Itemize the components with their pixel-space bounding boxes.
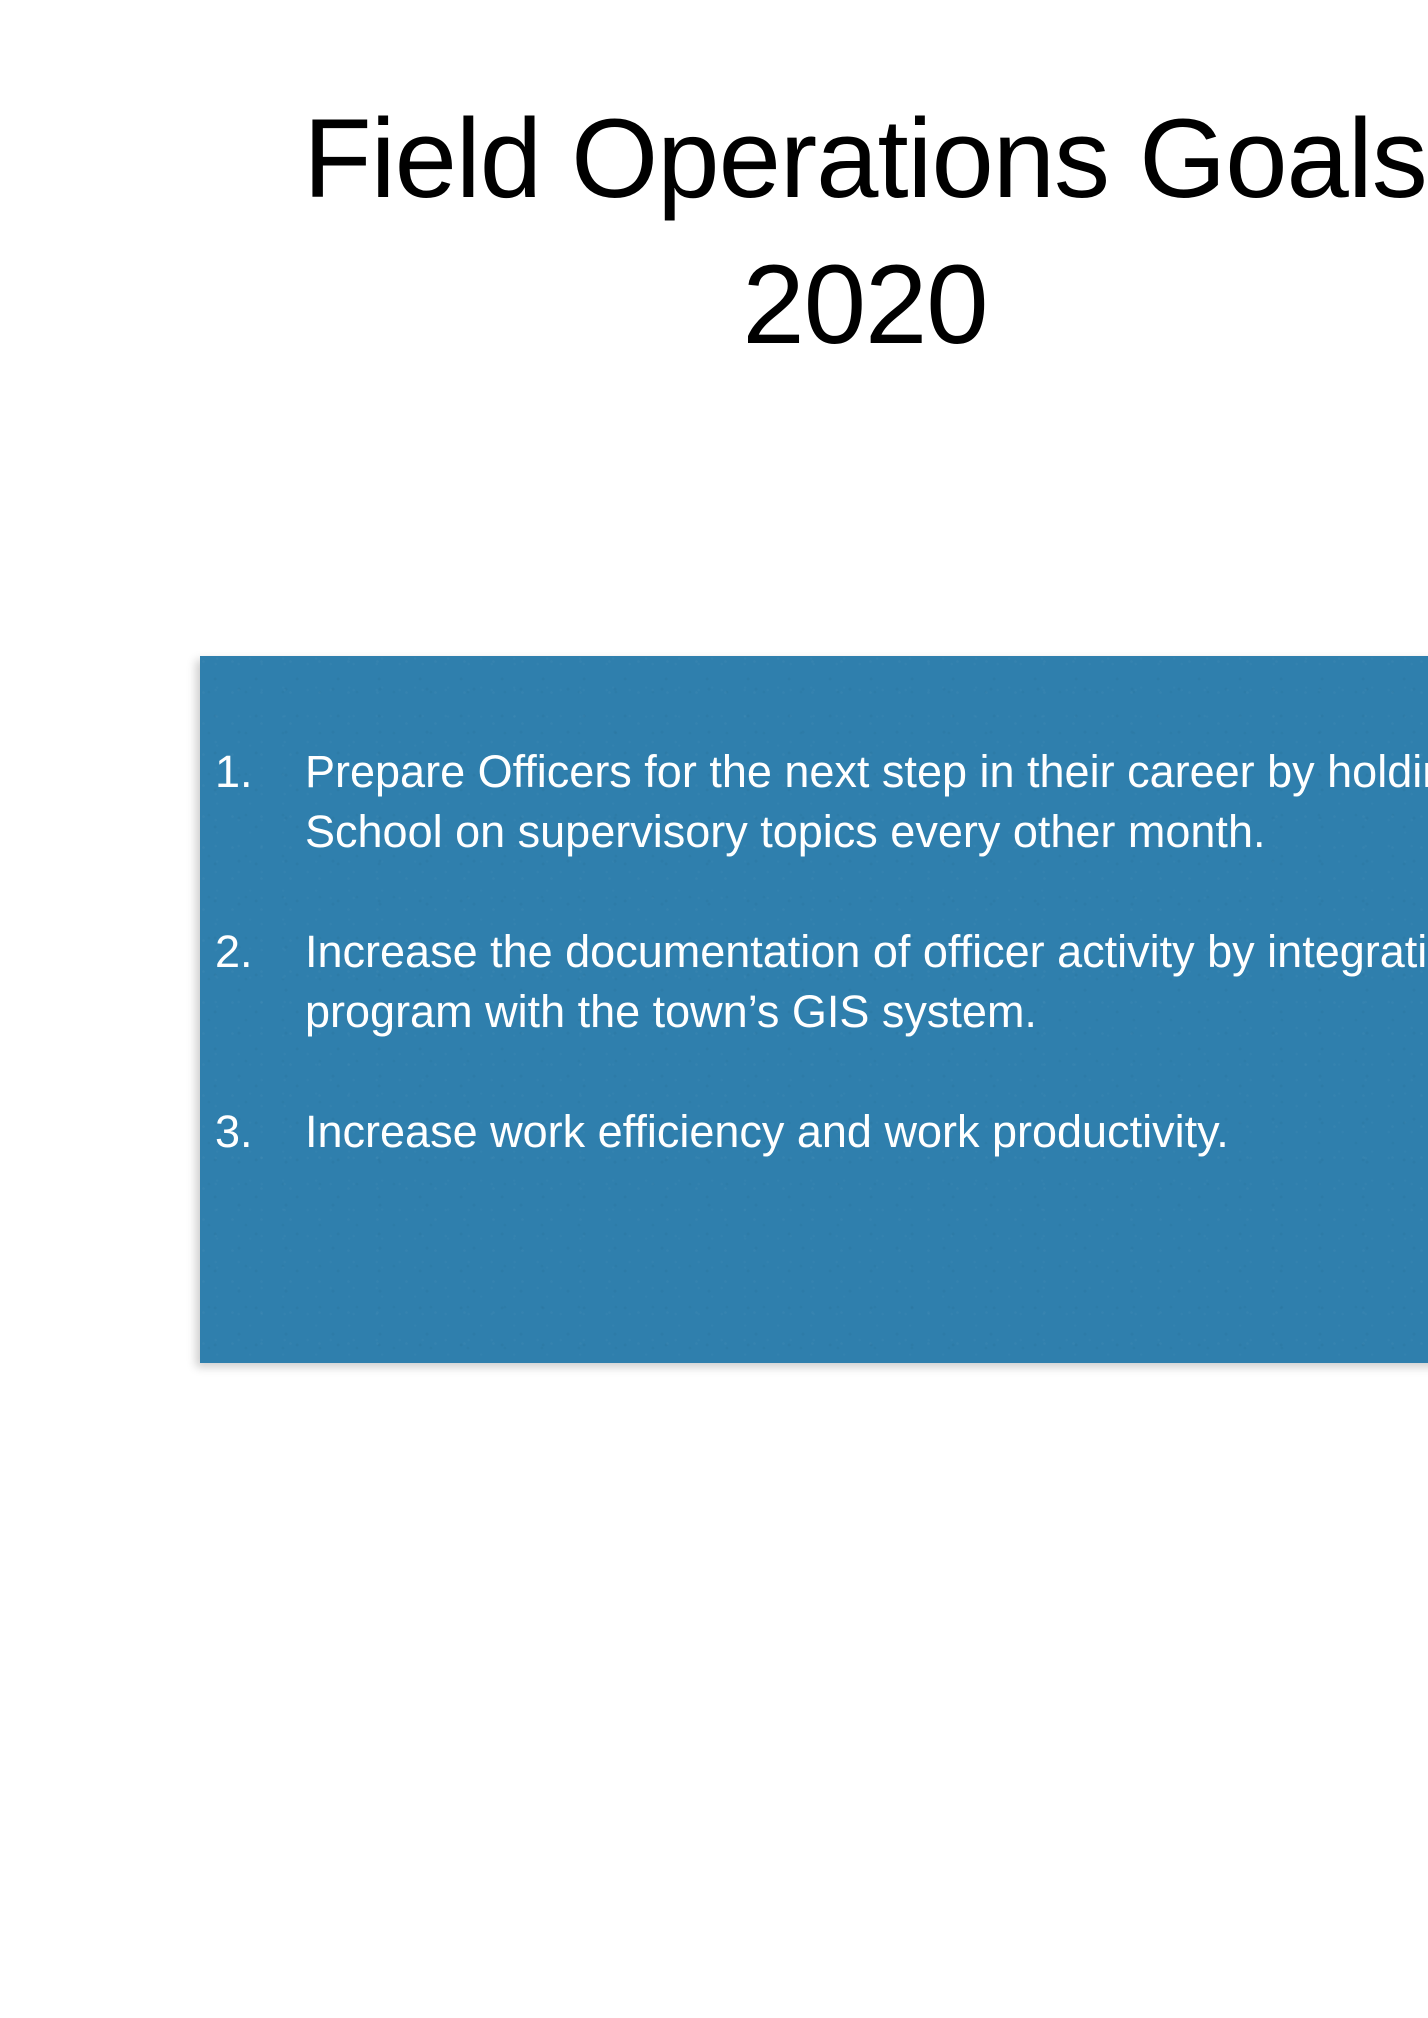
list-item-number: 3. (215, 1102, 305, 1162)
list-item-number: 2. (215, 922, 305, 982)
page-title-line-2: 2020 (0, 232, 1428, 378)
list-item: 1. Prepare Officers for the next step in… (215, 742, 1428, 862)
list-item: 3. Increase work efficiency and work pro… (215, 1102, 1428, 1162)
list-item-text: Increase the documentation of officer ac… (305, 922, 1428, 1042)
list-item-text-line: Increase work efficiency and work produc… (305, 1102, 1428, 1162)
page-title: Field Operations Goals 2020 (0, 86, 1428, 378)
list-item: 2. Increase the documentation of officer… (215, 922, 1428, 1042)
goals-list: 1. Prepare Officers for the next step in… (215, 742, 1428, 1162)
list-item-text: Prepare Officers for the next step in th… (305, 742, 1428, 862)
list-item-text-line: School on supervisory topics every other… (305, 802, 1428, 862)
list-item-text-line: Increase the documentation of officer ac… (305, 922, 1428, 982)
list-item-text-line: program with the town’s GIS system. (305, 982, 1428, 1042)
list-item-text: Increase work efficiency and work produc… (305, 1102, 1428, 1162)
list-item-text-line: Prepare Officers for the next step in th… (305, 742, 1428, 802)
slide-canvas: Field Operations Goals 2020 1. Prepare O… (0, 0, 1428, 2018)
page-title-line-1: Field Operations Goals (0, 86, 1428, 232)
goals-panel: 1. Prepare Officers for the next step in… (200, 656, 1428, 1363)
list-item-number: 1. (215, 742, 305, 802)
